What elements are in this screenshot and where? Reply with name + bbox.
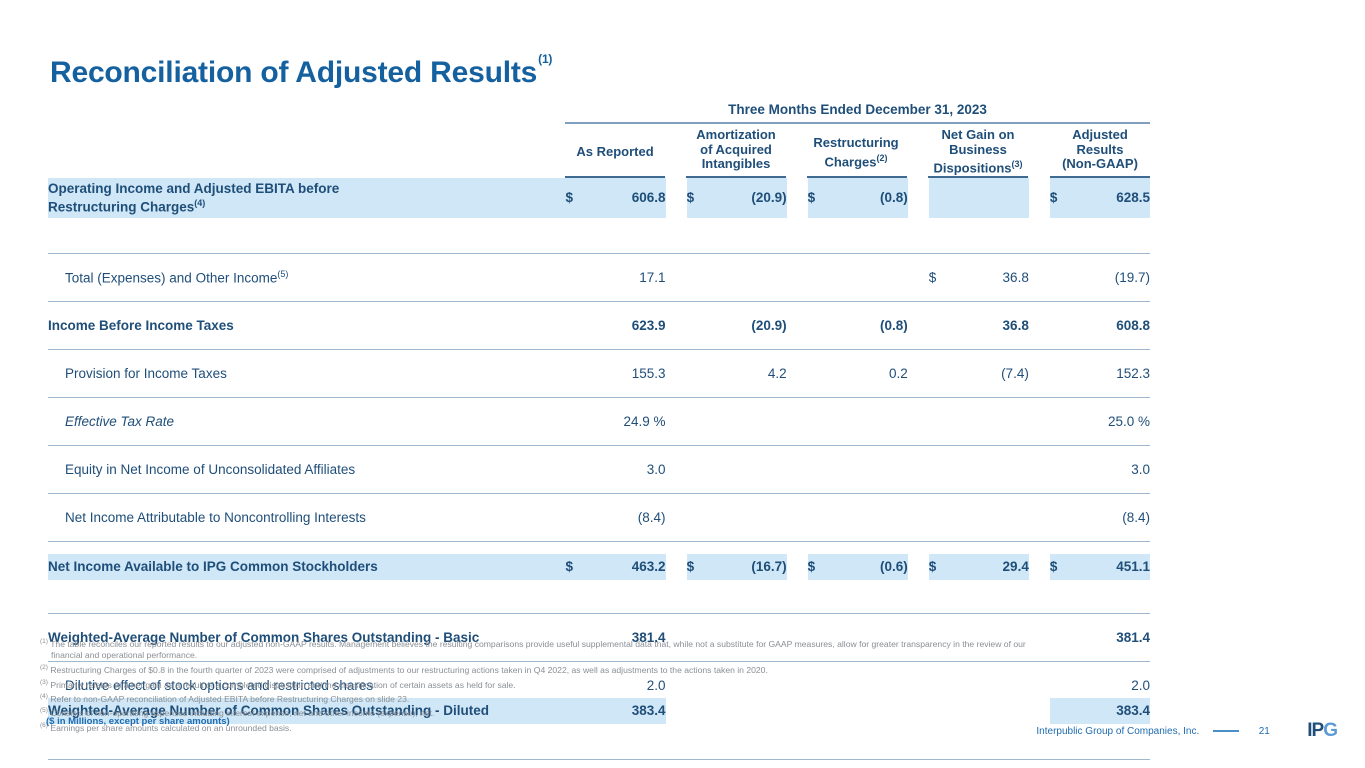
table-row: Net Income Available to IPG Common Stock… (48, 554, 1150, 580)
cell-gap (908, 314, 929, 338)
cell-symbol: $ (1050, 178, 1072, 218)
column-header-line2: Charges(2) (806, 151, 906, 170)
column-header-line1: As Reported (565, 145, 665, 160)
cell-gap (1029, 458, 1050, 482)
cell-value: (16.7) (709, 554, 787, 580)
cell-symbol (565, 314, 587, 338)
cell-symbol (687, 314, 709, 338)
row-label: Total (Expenses) and Other Income(5) (48, 266, 565, 290)
row-rule (48, 434, 1150, 458)
cell-gap (1029, 506, 1050, 530)
row-rule (48, 290, 1150, 314)
cell-symbol (565, 410, 587, 434)
row-label: Provision for Income Taxes (48, 362, 565, 386)
cell-symbol (929, 506, 951, 530)
row-label: Effective Tax Rate (48, 410, 565, 434)
cell-value: 0.2 (830, 362, 908, 386)
cell-value (830, 266, 908, 290)
cell-value: 36.8 (951, 314, 1029, 338)
cell-symbol (929, 178, 951, 218)
footer-company-name: Interpublic Group of Companies, Inc. (1036, 726, 1199, 737)
cell-symbol (565, 362, 587, 386)
cell-gap (787, 506, 808, 530)
cell-symbol (1050, 506, 1072, 530)
row-rule (48, 482, 1150, 506)
cell-value: 3.0 (587, 458, 665, 482)
cell-gap (1029, 314, 1050, 338)
cell-symbol (1050, 362, 1072, 386)
row-label: Equity in Net Income of Unconsolidated A… (48, 458, 565, 482)
cell-symbol (1050, 314, 1072, 338)
cell-gap (1029, 266, 1050, 290)
page-title-text: Reconciliation of Adjusted Results (50, 56, 537, 89)
row-spacer (48, 218, 1150, 242)
cell-value (830, 458, 908, 482)
cell-symbol (687, 266, 709, 290)
period-header: Three Months Ended December 31, 2023 (565, 102, 1150, 117)
cell-symbol (808, 314, 830, 338)
row-rule (48, 602, 1150, 626)
cell-gap (1029, 178, 1050, 218)
column-header-superscript: (3) (1012, 159, 1023, 169)
cell-gap (787, 266, 808, 290)
cell-symbol (687, 410, 709, 434)
footnote-4: (4) Refer to non-GAAP reconciliation of … (40, 691, 1160, 705)
cell-symbol (687, 458, 709, 482)
row-rule (48, 338, 1150, 362)
column-header-line1: Restructuring (806, 136, 906, 151)
cell-gap (666, 178, 687, 218)
cell-gap (666, 266, 687, 290)
slide-footer: Interpublic Group of Companies, Inc. 21 … (1036, 720, 1337, 742)
column-header-line3: Dispositions(3) (927, 157, 1029, 176)
cell-gap (908, 362, 929, 386)
cell-value: 451.1 (1072, 554, 1150, 580)
cell-value (951, 458, 1029, 482)
units-note: ($ in Millions, except per share amounts… (46, 716, 230, 727)
column-header-line3: Intangibles (686, 157, 786, 172)
page-title: Reconciliation of Adjusted Results(1) (50, 56, 551, 90)
ipg-logo: IPG (1307, 720, 1337, 742)
cell-gap (908, 266, 929, 290)
cell-value: 606.8 (587, 178, 665, 218)
cell-symbol (687, 506, 709, 530)
cell-value: 608.8 (1072, 314, 1150, 338)
row-rule (48, 748, 1150, 768)
cell-symbol (565, 458, 587, 482)
logo-text-ip: IP (1307, 720, 1323, 741)
row-spacer (48, 580, 1150, 602)
footer-divider (1213, 730, 1239, 731)
cell-symbol (808, 458, 830, 482)
cell-symbol (1050, 458, 1072, 482)
cell-gap (1029, 362, 1050, 386)
cell-symbol: $ (1050, 554, 1072, 580)
column-header-line1: Amortization (686, 128, 786, 143)
cell-gap (787, 362, 808, 386)
cell-value: (8.4) (1072, 506, 1150, 530)
row-label: Net Income Available to IPG Common Stock… (48, 554, 565, 580)
cell-symbol: $ (808, 554, 830, 580)
cell-symbol (929, 458, 951, 482)
cell-gap (666, 410, 687, 434)
cell-symbol (1050, 410, 1072, 434)
cell-value: 17.1 (587, 266, 665, 290)
cell-value: 463.2 (587, 554, 665, 580)
cell-symbol: $ (687, 554, 709, 580)
row-label: Net Income Attributable to Noncontrollin… (48, 506, 565, 530)
slide-canvas: Reconciliation of Adjusted Results(1) Th… (0, 0, 1365, 768)
cell-symbol: $ (808, 178, 830, 218)
cell-gap (908, 506, 929, 530)
page-number: 21 (1253, 726, 1275, 737)
column-header-line1: Adjusted (1050, 128, 1150, 143)
table-row: Effective Tax Rate 24.9 % 25.0 % (48, 410, 1150, 434)
cell-symbol: $ (687, 178, 709, 218)
cell-gap (1029, 554, 1050, 580)
cell-value: 3.0 (1072, 458, 1150, 482)
page-title-superscript: (1) (538, 52, 552, 66)
cell-value: 25.0 % (1072, 410, 1150, 434)
cell-gap (1029, 410, 1050, 434)
cell-gap (908, 410, 929, 434)
cell-value (709, 266, 787, 290)
cell-value: (7.4) (951, 362, 1029, 386)
cell-gap (908, 178, 929, 218)
row-rule (48, 242, 1150, 266)
row-label: Income Before Income Taxes (48, 314, 565, 338)
cell-value (709, 410, 787, 434)
table-row: Income Before Income Taxes 623.9 (20.9) … (48, 314, 1150, 338)
cell-symbol (929, 410, 951, 434)
cell-gap (787, 314, 808, 338)
cell-value: 29.4 (951, 554, 1029, 580)
column-header-amortization: Amortization of Acquired Intangibles (686, 128, 786, 172)
cell-gap (787, 458, 808, 482)
cell-value: (0.8) (830, 314, 908, 338)
row-label: Operating Income and Adjusted EBITA befo… (48, 178, 565, 218)
cell-symbol (808, 410, 830, 434)
cell-value (951, 178, 1029, 218)
column-header-adjusted-results: Adjusted Results (Non-GAAP) (1050, 128, 1150, 172)
cell-gap (787, 554, 808, 580)
column-header-line2: Results (1050, 143, 1150, 158)
cell-symbol (565, 506, 587, 530)
cell-value: 4.2 (709, 362, 787, 386)
column-header-line3: (Non-GAAP) (1050, 157, 1150, 172)
cell-gap (666, 314, 687, 338)
cell-symbol (929, 314, 951, 338)
row-rule (48, 386, 1150, 410)
cell-value (830, 506, 908, 530)
cell-value: 36.8 (951, 266, 1029, 290)
cell-gap (908, 458, 929, 482)
column-header-line1: Net Gain on (927, 128, 1029, 143)
cell-value: 152.3 (1072, 362, 1150, 386)
cell-gap (908, 554, 929, 580)
footnote-3: (3) Primarily relates to a net gain as a… (40, 677, 1160, 691)
logo-text-g: G (1323, 720, 1337, 741)
table-row: Net Income Attributable to Noncontrollin… (48, 506, 1150, 530)
cell-value: 628.5 (1072, 178, 1150, 218)
cell-symbol: $ (565, 178, 587, 218)
cell-gap (666, 458, 687, 482)
cell-value: (0.6) (830, 554, 908, 580)
cell-value (951, 506, 1029, 530)
column-header-superscript: (2) (877, 153, 888, 163)
cell-symbol (808, 362, 830, 386)
cell-symbol (1050, 266, 1072, 290)
row-rule (48, 530, 1150, 554)
cell-symbol: $ (929, 266, 951, 290)
cell-symbol (808, 506, 830, 530)
cell-value (709, 506, 787, 530)
cell-value (709, 458, 787, 482)
cell-gap (666, 554, 687, 580)
period-header-rule (565, 122, 1150, 124)
cell-symbol (687, 362, 709, 386)
footnote-2: (2) Restructuring Charges of $0.8 in the… (40, 662, 1160, 676)
cell-gap (666, 362, 687, 386)
table-row: Operating Income and Adjusted EBITA befo… (48, 178, 1150, 218)
column-header-as-reported: As Reported (565, 145, 665, 160)
cell-symbol (929, 362, 951, 386)
cell-symbol (565, 266, 587, 290)
cell-value: 155.3 (587, 362, 665, 386)
column-header-line2: of Acquired (686, 143, 786, 158)
table-row: Provision for Income Taxes 155.3 4.2 0.2… (48, 362, 1150, 386)
cell-gap (666, 506, 687, 530)
cell-value (830, 410, 908, 434)
cell-value: 24.9 % (587, 410, 665, 434)
cell-value: 623.9 (587, 314, 665, 338)
cell-symbol: $ (565, 554, 587, 580)
cell-symbol: $ (929, 554, 951, 580)
cell-value: (0.8) (830, 178, 908, 218)
cell-gap (787, 410, 808, 434)
cell-value (951, 410, 1029, 434)
cell-gap (787, 178, 808, 218)
cell-value: (19.7) (1072, 266, 1150, 290)
cell-value: (20.9) (709, 314, 787, 338)
cell-value: (20.9) (709, 178, 787, 218)
column-header-net-gain: Net Gain on Business Dispositions(3) (927, 128, 1029, 176)
footnote-1: (1) The table reconciles our reported re… (40, 636, 1160, 662)
table-row: Total (Expenses) and Other Income(5) 17.… (48, 266, 1150, 290)
cell-symbol (808, 266, 830, 290)
column-header-line2: Business (927, 143, 1029, 158)
cell-value: (8.4) (587, 506, 665, 530)
column-header-restructuring: Restructuring Charges(2) (806, 136, 906, 169)
table-row: Equity in Net Income of Unconsolidated A… (48, 458, 1150, 482)
